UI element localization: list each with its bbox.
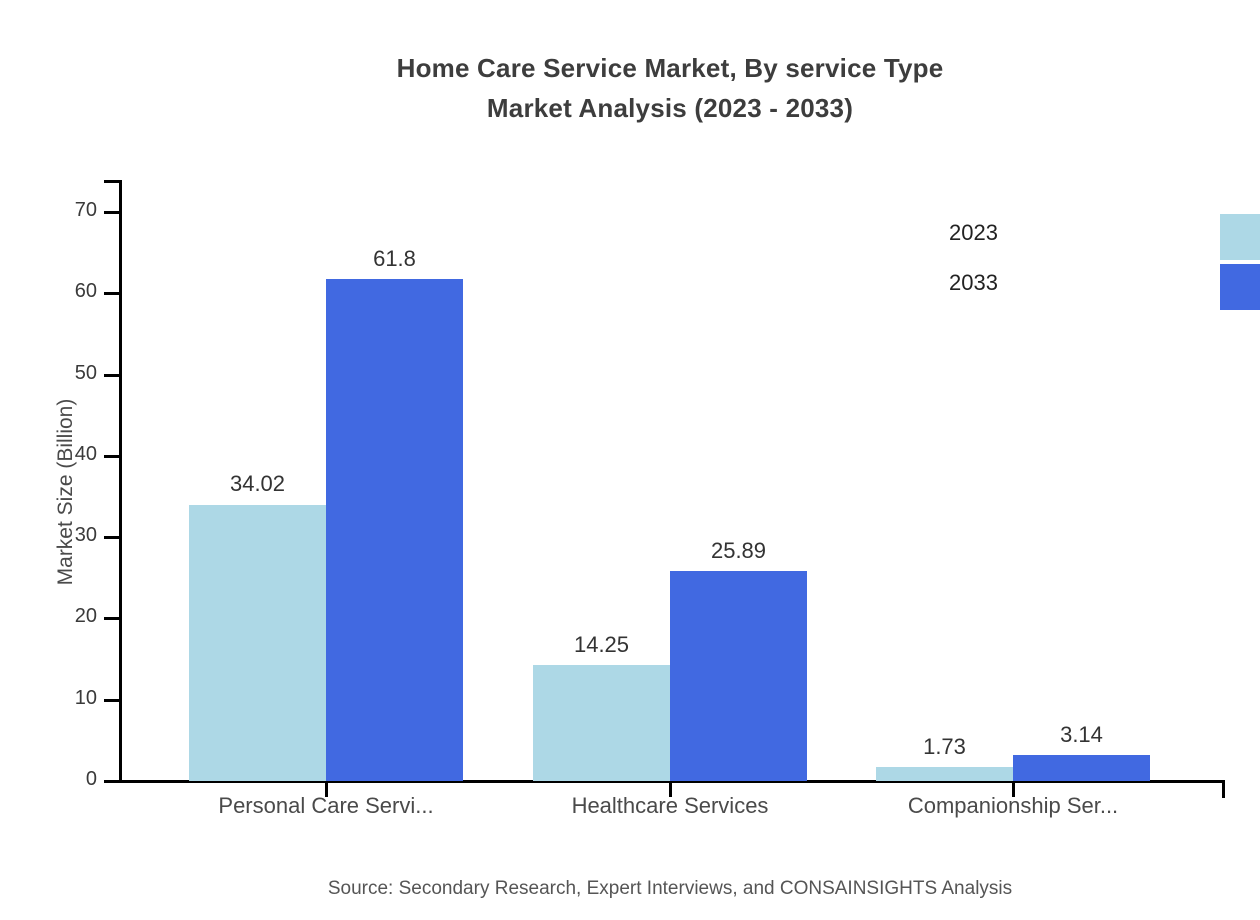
y-tick-label: 0 bbox=[37, 768, 97, 791]
plot-area: Market Size (Billion) 010203040506070 Pe… bbox=[0, 0, 1260, 920]
y-tick-label: 20 bbox=[37, 605, 97, 628]
y-tick-label: 50 bbox=[37, 362, 97, 385]
x-axis-category-label: Personal Care Servi... bbox=[156, 793, 496, 819]
y-tick-mark bbox=[104, 211, 120, 214]
bar-value-label: 61.8 bbox=[295, 246, 495, 272]
y-tick-label: 60 bbox=[37, 280, 97, 303]
y-tick-mark bbox=[104, 536, 120, 539]
bar[interactable] bbox=[876, 767, 1013, 781]
x-axis-end-cap bbox=[1222, 780, 1225, 798]
y-tick-label: 30 bbox=[37, 524, 97, 547]
y-tick-mark bbox=[104, 699, 120, 702]
y-tick-mark bbox=[104, 292, 120, 295]
y-tick-label: 40 bbox=[37, 443, 97, 466]
x-axis-category-label: Companionship Ser... bbox=[843, 793, 1183, 819]
legend-swatch bbox=[1220, 264, 1260, 310]
bar-value-label: 3.14 bbox=[982, 722, 1182, 748]
legend-label: 2033 bbox=[878, 268, 998, 298]
bar[interactable] bbox=[670, 571, 807, 781]
y-tick-label: 70 bbox=[37, 199, 97, 222]
bar-value-label: 25.89 bbox=[639, 538, 839, 564]
legend-label: 2023 bbox=[878, 218, 998, 248]
x-axis-category-label: Healthcare Services bbox=[500, 793, 840, 819]
legend-swatch bbox=[1220, 214, 1260, 260]
source-note: Source: Secondary Research, Expert Inter… bbox=[0, 878, 1260, 900]
y-axis-spine bbox=[119, 180, 122, 783]
bar[interactable] bbox=[189, 505, 326, 782]
y-tick-mark bbox=[104, 374, 120, 377]
bar[interactable] bbox=[533, 665, 670, 781]
y-tick-label: 10 bbox=[37, 687, 97, 710]
y-tick-mark bbox=[104, 780, 120, 783]
y-axis-top-cap bbox=[104, 180, 122, 183]
bar[interactable] bbox=[326, 279, 463, 781]
y-tick-mark bbox=[104, 455, 120, 458]
y-tick-mark bbox=[104, 617, 120, 620]
bar[interactable] bbox=[1013, 755, 1150, 781]
